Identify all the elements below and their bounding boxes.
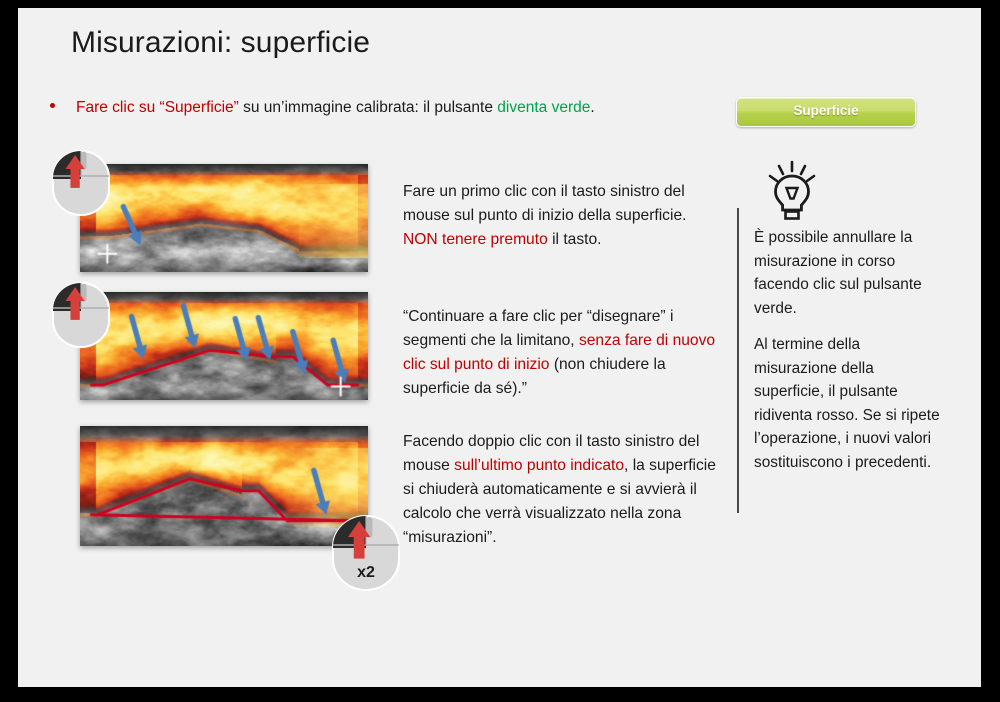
ultrasound-thermal-canvas-2: [80, 292, 368, 400]
text-run: Fare un primo clic con il tasto sinistro…: [403, 183, 686, 224]
vertical-divider: [737, 208, 739, 513]
bullet-marker-icon: [50, 103, 55, 108]
slide-frame: Misurazioni: superficie Fare clic su “Su…: [0, 0, 1000, 702]
text-run: sull’ultimo punto indicato: [454, 457, 624, 474]
text-run: Fare clic su “Superficie”: [76, 99, 243, 116]
sidebar-note-1: È possibile annullare la misurazione in …: [754, 226, 944, 320]
text-run: il tasto.: [548, 231, 602, 248]
text-run: su un’immagine calibrata: il pulsante: [243, 99, 497, 116]
lightbulb-icon: [764, 160, 820, 222]
superficie-button-label: Superficie: [737, 103, 915, 118]
step-3-paragraph: Facendo doppio clic con il tasto sinistr…: [403, 430, 723, 550]
ultrasound-image-2: [80, 292, 368, 400]
slide-canvas: Misurazioni: superficie Fare clic su “Su…: [18, 8, 981, 687]
ultrasound-image-3: [80, 426, 368, 546]
mouse-left-click-icon-1: [50, 148, 112, 218]
svg-text:x2: x2: [357, 564, 375, 581]
ultrasound-thermal-canvas-1: [80, 164, 368, 272]
mouse-left-click-icon-2: [50, 280, 112, 350]
ultrasound-image-1: [80, 164, 368, 272]
mouse-double-click-icon: x2: [330, 513, 402, 593]
text-run: diventa verde: [497, 99, 590, 116]
sidebar-note-2: Al termine della misurazione della super…: [754, 333, 944, 474]
page-title: Misurazioni: superficie: [71, 26, 370, 60]
bullet-text: Fare clic su “Superficie” su un’immagine…: [76, 98, 595, 118]
ultrasound-thermal-canvas-3: [80, 426, 368, 546]
text-run: NON tenere premuto: [403, 231, 548, 248]
superficie-button[interactable]: Superficie: [736, 97, 916, 127]
step-2-paragraph: “Continuare a fare clic per “disegnare” …: [403, 305, 723, 401]
step-1-paragraph: Fare un primo clic con il tasto sinistro…: [403, 180, 723, 252]
text-run: .: [590, 99, 594, 116]
